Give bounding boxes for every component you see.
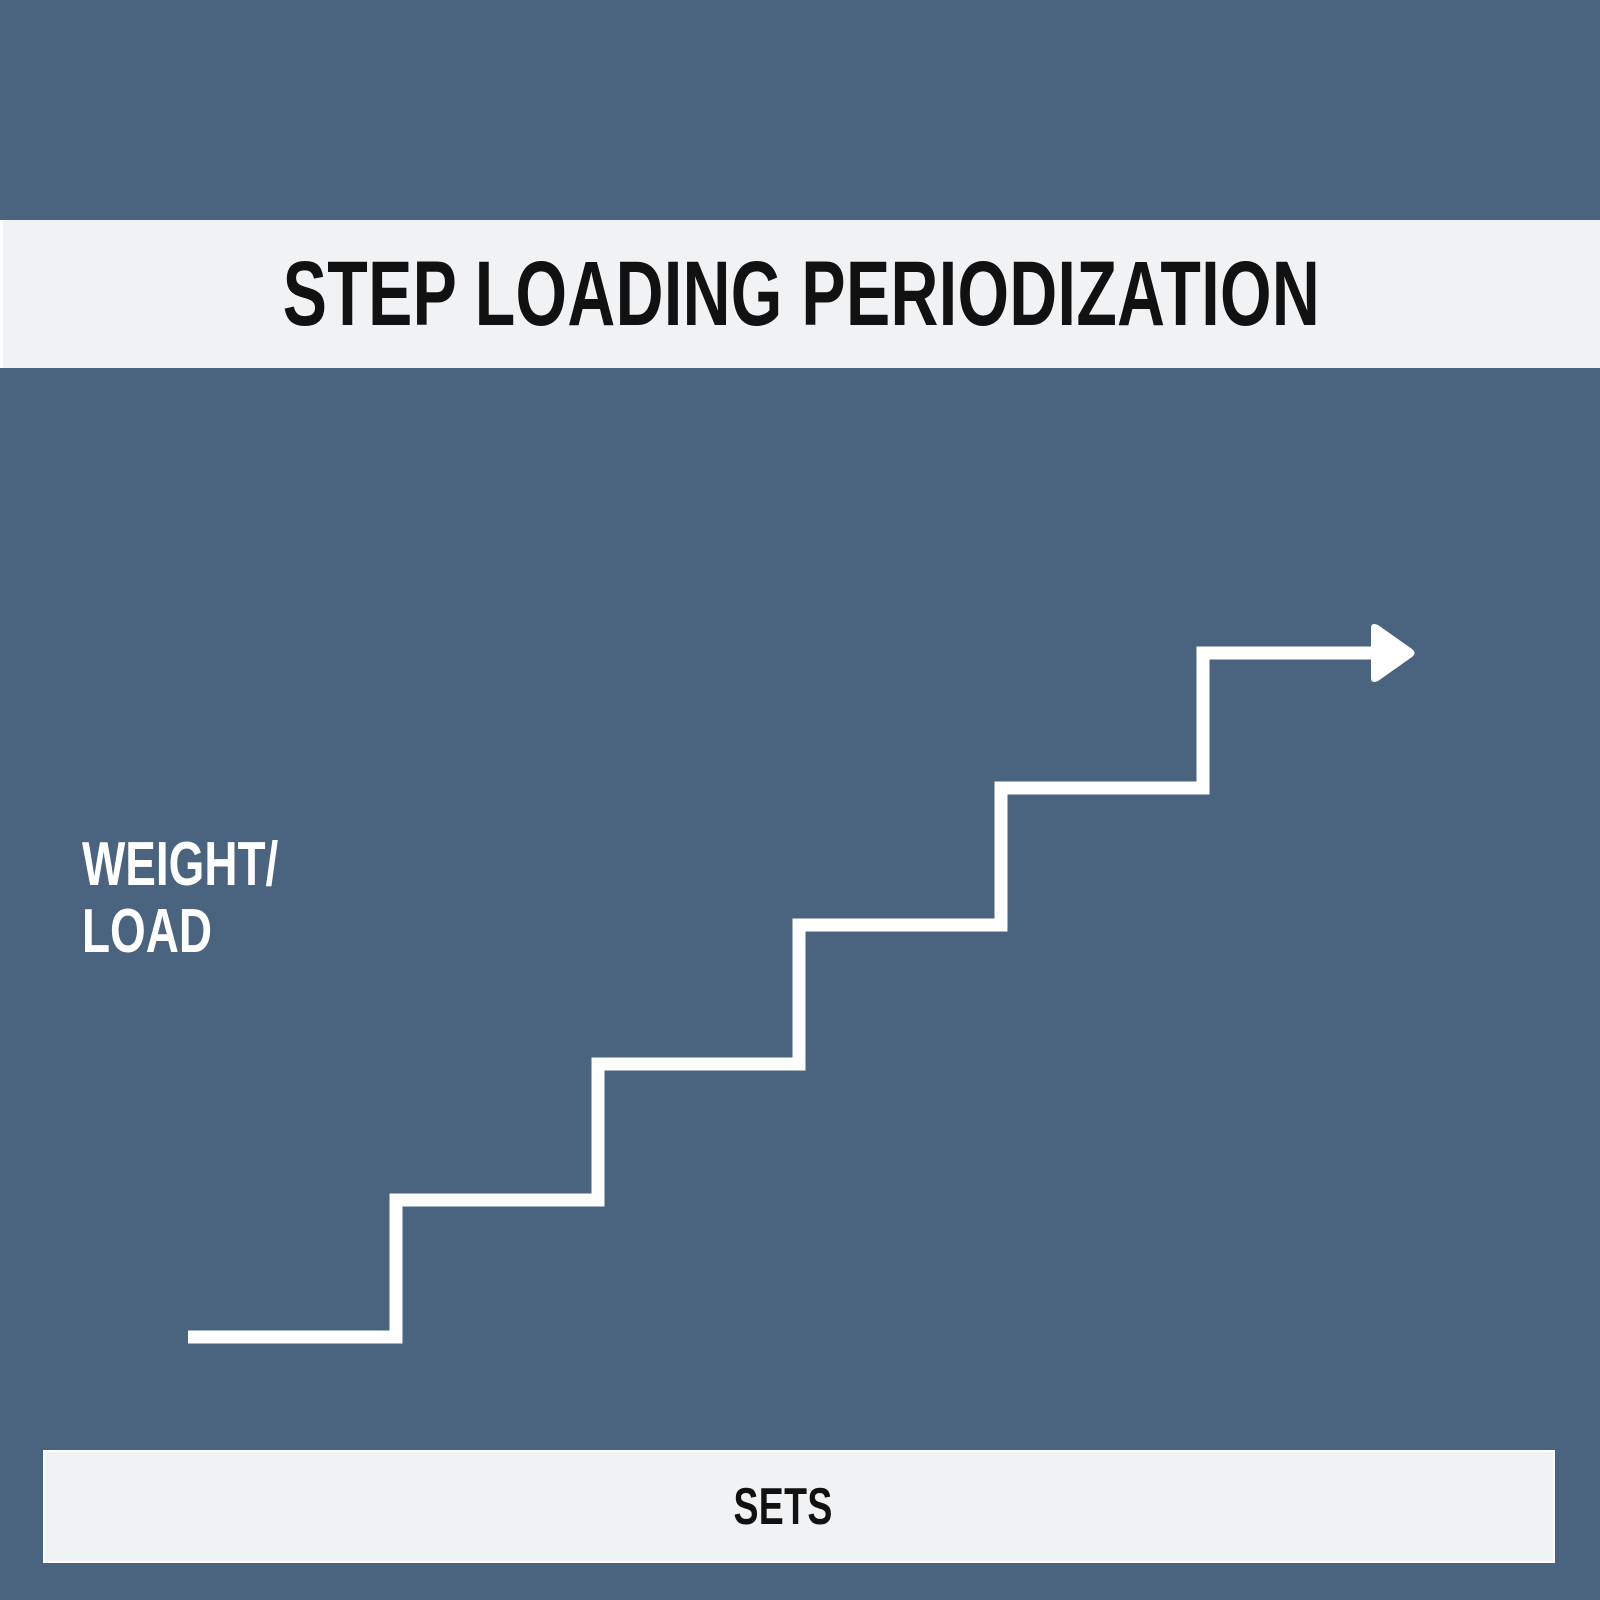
y-axis-label-line-1: WEIGHT/ [82, 830, 278, 899]
title-band: STEP LOADING PERIODIZATION [0, 220, 1600, 368]
y-axis-label-line-2: LOAD [82, 897, 212, 966]
x-axis-label: SETS [734, 1481, 833, 1533]
x-axis-band: SETS [43, 1450, 1555, 1563]
infographic-canvas: STEP LOADING PERIODIZATION WEIGHT/LOAD S… [0, 0, 1600, 1600]
page-title: STEP LOADING PERIODIZATION [283, 248, 1320, 340]
y-axis-label: WEIGHT/LOAD [82, 832, 278, 966]
